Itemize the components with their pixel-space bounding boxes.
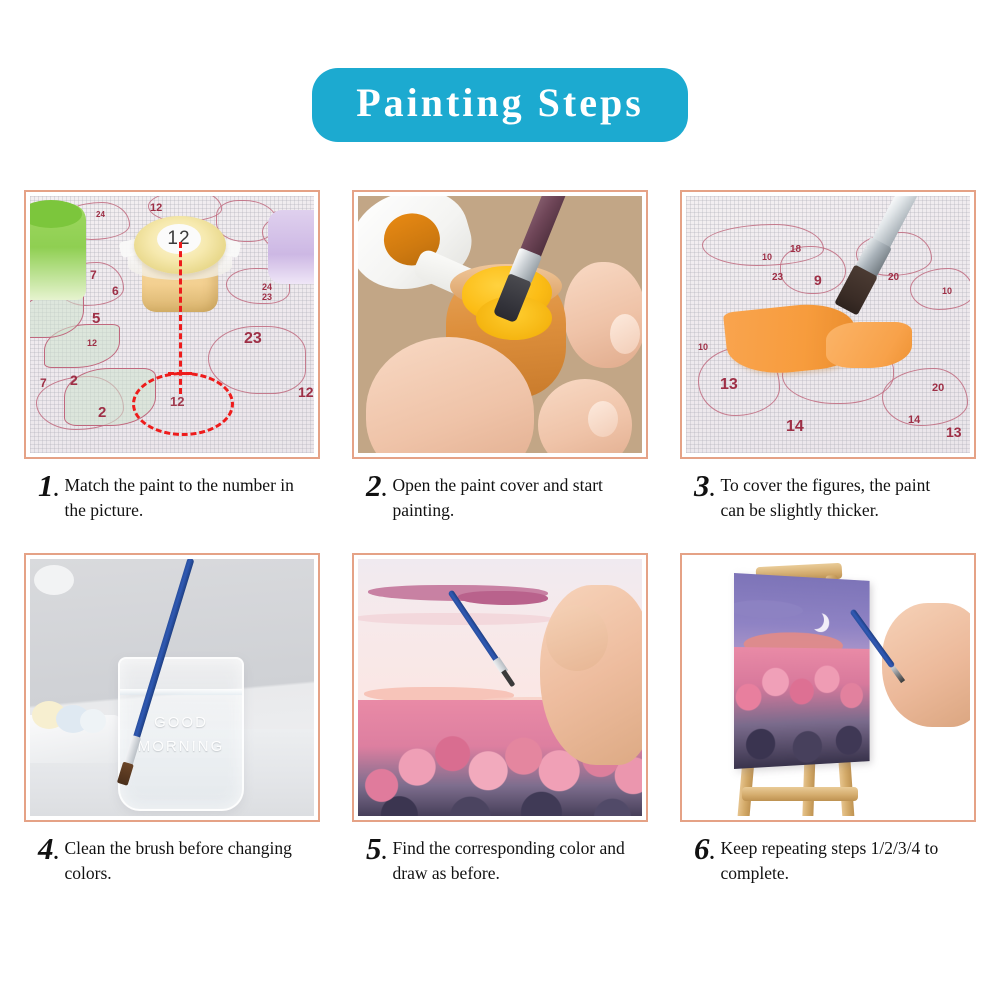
canvas-number: 24: [96, 210, 105, 219]
brush-in-water-glass-photo: GOOD MORNING: [30, 559, 314, 816]
sunset-cloud: [734, 599, 803, 619]
step-3-text: To cover the figures, the paint can be s…: [721, 473, 957, 523]
canvas-number: 12: [87, 338, 97, 348]
fingernail: [610, 314, 640, 354]
canvas-number: 2: [98, 404, 106, 421]
canvas-number: 2: [70, 372, 78, 388]
page-header: Painting Steps: [0, 68, 1000, 142]
fingernail: [588, 401, 618, 437]
hand-holding-open-paint-pot-photo: [358, 196, 642, 453]
step-3-photo-frame: 10 18 23 9 20 20 13 14 20 10 10 14 13: [680, 190, 976, 459]
easel-tray-bar: [742, 787, 858, 801]
paint-pot-on-numbered-canvas-photo: 12 24 2 7 6 5 12 2 7 2 24 23 23 12: [30, 196, 314, 453]
canvas-number: 23: [772, 272, 783, 283]
step-6-number: 6.: [694, 836, 715, 866]
page-title: Painting Steps: [356, 80, 644, 126]
step-2-caption: 2. Open the paint cover and start painti…: [352, 473, 648, 523]
green-paint-pot: [30, 204, 86, 300]
canvas-outline: [882, 368, 968, 426]
pastel-egg: [80, 709, 106, 733]
steps-grid: 12 24 2 7 6 5 12 2 7 2 24 23 23 12: [24, 190, 990, 886]
step-6-text: Keep repeating steps 1/2/3/4 to complete…: [721, 836, 957, 886]
crescent-moon-icon: [806, 610, 824, 630]
flower-cluster: [734, 647, 870, 769]
step-card-2: 2. Open the paint cover and start painti…: [352, 190, 648, 523]
step-2-photo-frame: [352, 190, 648, 459]
step-4-caption: 4. Clean the brush before changing color…: [24, 836, 320, 886]
hand: [540, 585, 642, 765]
step-4-number: 4.: [38, 836, 59, 866]
canvas-number: 24: [262, 282, 272, 292]
water-surface: [120, 689, 242, 695]
finished-painting-on-easel-photo: [686, 559, 970, 816]
canvas-number: 20: [932, 382, 944, 394]
canvas-number: 14: [908, 414, 920, 426]
step-2-text: Open the paint cover and start painting.: [393, 473, 629, 523]
step-5-photo-frame: [352, 553, 648, 822]
brush-painting-canvas-photo: 10 18 23 9 20 20 13 14 20 10 10 14 13: [686, 196, 970, 453]
step-1-photo-frame: 12 24 2 7 6 5 12 2 7 2 24 23 23 12: [24, 190, 320, 459]
canvas-number: 9: [814, 272, 822, 288]
step-5-text: Find the corresponding color and draw as…: [393, 836, 629, 886]
step-4-text: Clean the brush before changing colors.: [65, 836, 301, 886]
canvas-number: 7: [40, 376, 47, 390]
step-card-4: GOOD MORNING 4. Clean the brush before c…: [24, 553, 320, 886]
step-6-photo-frame: [680, 553, 976, 822]
step-card-3: 10 18 23 9 20 20 13 14 20 10 10 14 13: [680, 190, 976, 523]
step-5-number: 5.: [366, 836, 387, 866]
sky-color-band: [358, 613, 554, 625]
canvas-number: 13: [946, 424, 962, 440]
step-card-1: 12 24 2 7 6 5 12 2 7 2 24 23 23 12: [24, 190, 320, 523]
step-2-number: 2.: [366, 473, 387, 503]
canvas-number: 12: [150, 202, 162, 214]
step-4-photo-frame: GOOD MORNING: [24, 553, 320, 822]
green-pot-cap: [30, 200, 82, 228]
canvas-outline: [910, 268, 970, 310]
step-3-number: 3.: [694, 473, 715, 503]
page-title-banner: Painting Steps: [312, 68, 688, 142]
finished-canvas: [734, 573, 870, 769]
step-card-5: 5. Find the corresponding color and draw…: [352, 553, 648, 886]
hand-painting-cherry-blossom-photo: [358, 559, 642, 816]
step-6-caption: 6. Keep repeating steps 1/2/3/4 to compl…: [680, 836, 976, 886]
canvas-number: 10: [698, 342, 708, 352]
step-1-caption: 1. Match the paint to the number in the …: [24, 473, 320, 523]
canvas-number: 5: [92, 310, 100, 327]
step-1-text: Match the paint to the number in the pic…: [65, 473, 301, 523]
canvas-number: 23: [262, 292, 272, 302]
canvas-number: 6: [112, 284, 119, 298]
step-1-number: 1.: [38, 473, 59, 503]
step-card-6: 6. Keep repeating steps 1/2/3/4 to compl…: [680, 553, 976, 886]
blurred-object: [34, 565, 74, 595]
step-3-caption: 3. To cover the figures, the paint can b…: [680, 473, 976, 523]
step-5-caption: 5. Find the corresponding color and draw…: [352, 836, 648, 886]
canvas-number: 7: [90, 268, 97, 282]
hand-knuckle: [546, 605, 608, 671]
purple-paint-pot: [268, 210, 314, 284]
canvas-number: 13: [720, 376, 738, 394]
canvas-number: 10: [762, 252, 772, 262]
canvas-number: 23: [244, 330, 262, 348]
highlighted-canvas-number: 12: [170, 394, 184, 409]
canvas-number: 14: [786, 418, 804, 436]
cherry-blossom-foliage: [734, 647, 870, 769]
canvas-number: 18: [790, 244, 801, 255]
canvas-number: 20: [888, 272, 899, 283]
canvas-number: 10: [942, 286, 952, 296]
canvas-number: 12: [298, 384, 314, 400]
